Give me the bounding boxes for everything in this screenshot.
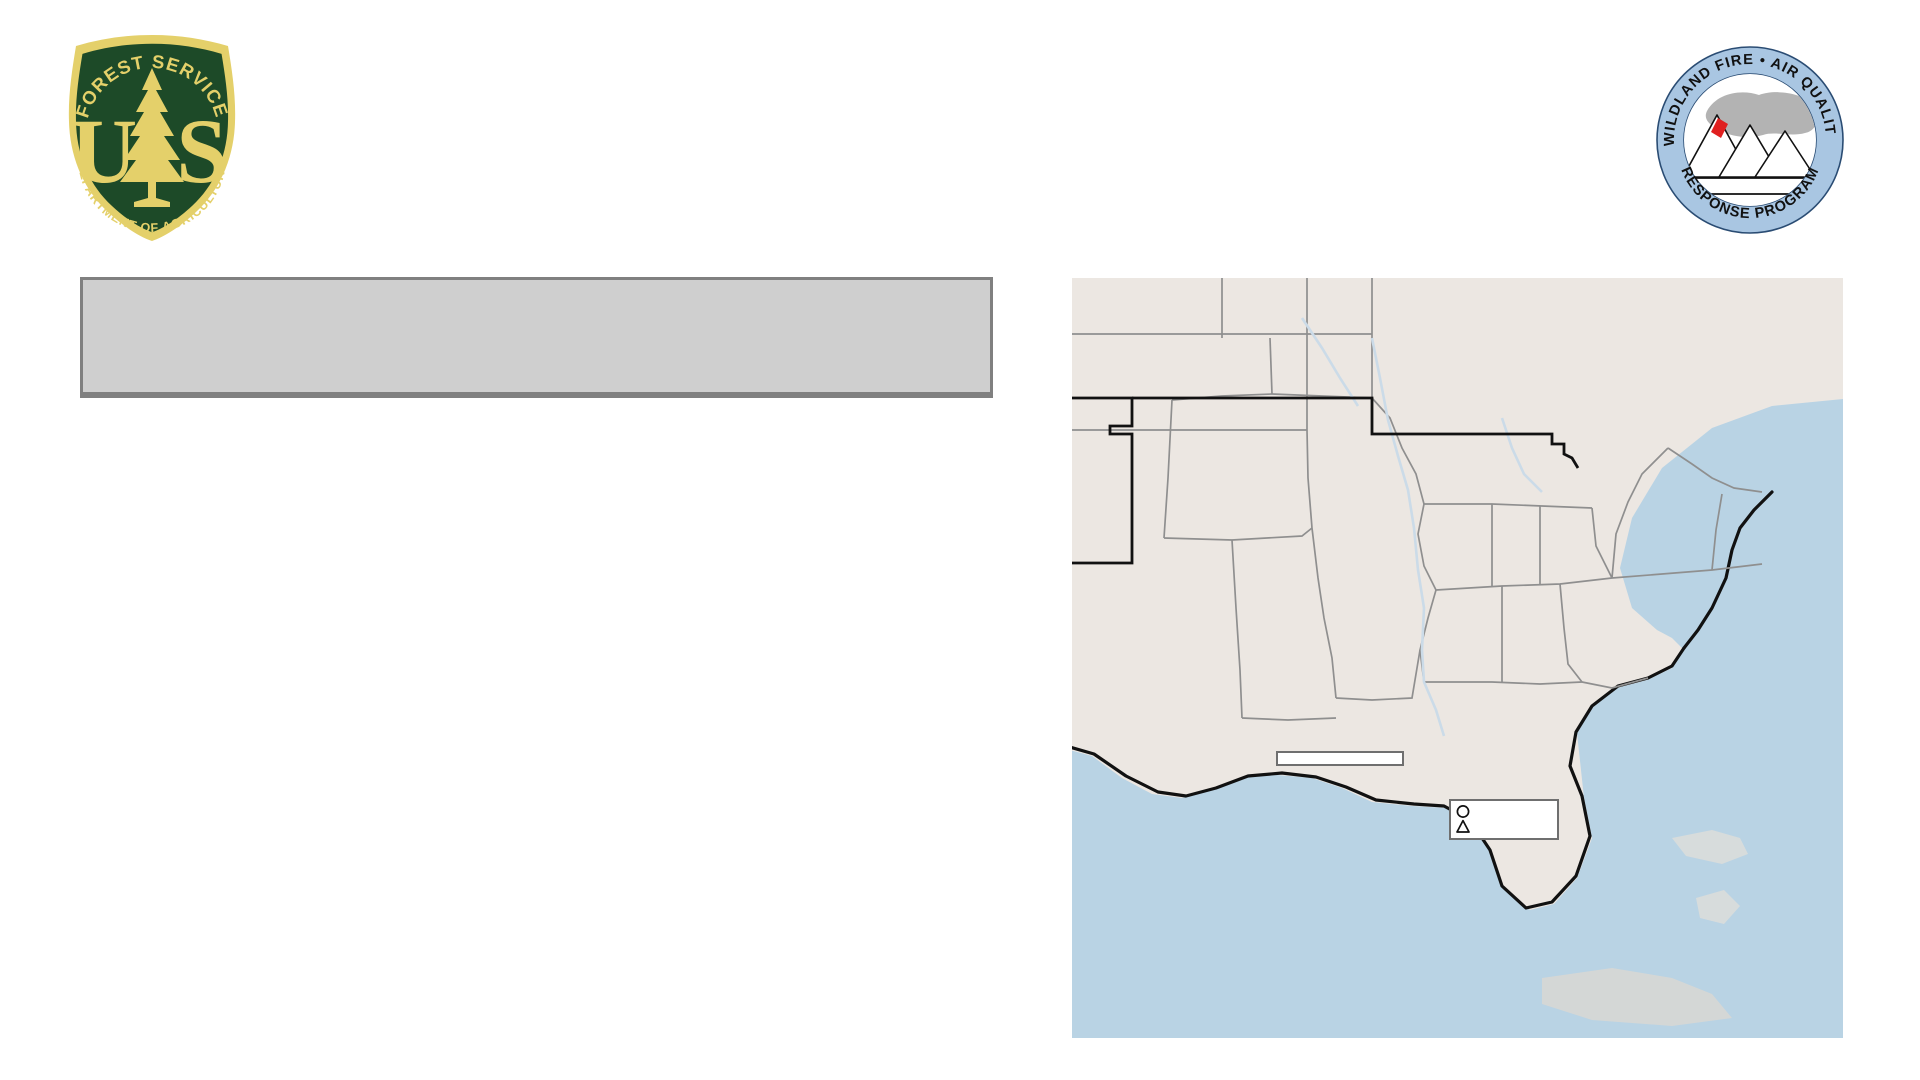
triangle-icon <box>1456 819 1470 834</box>
map-legend-air-quality-index <box>1276 751 1404 766</box>
circle-icon <box>1456 804 1470 819</box>
usfs-shield-logo: FOREST SERVICE DEPARTMENT OF AGRICULTURE… <box>52 30 252 245</box>
map-legend-site-type <box>1449 799 1559 840</box>
usfs-letter-u: U <box>71 100 137 202</box>
column-header-pm-nowcast <box>756 280 990 393</box>
usfs-letter-s: S <box>176 100 227 202</box>
table-header <box>83 280 990 393</box>
map-canvas[interactable] <box>1072 278 1843 1038</box>
legend-row-permanent <box>1456 819 1552 834</box>
column-header-state <box>544 280 756 393</box>
wfaqrp-logo: WILDLAND FIRE • AIR QUALITY RESPONSE PRO… <box>1655 45 1845 235</box>
nowcast-table-container <box>80 277 993 398</box>
nowcast-table <box>83 280 990 395</box>
legend-row-temporary <box>1456 804 1552 819</box>
column-header-site <box>83 280 544 393</box>
air-quality-map[interactable] <box>1072 278 1843 1038</box>
table-header-row <box>83 280 990 393</box>
